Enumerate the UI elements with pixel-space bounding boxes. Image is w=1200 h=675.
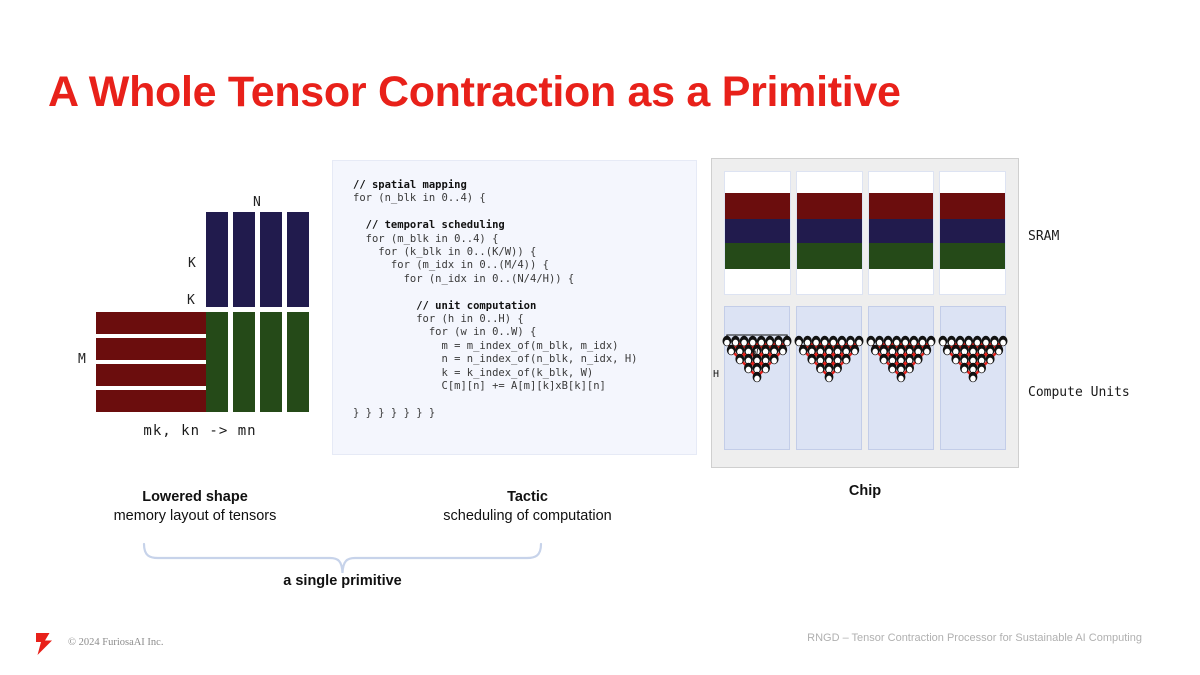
sram-cell [725,193,790,219]
compute-unit-width-label: W [752,348,758,359]
caption-tactic-subtitle: scheduling of computation [410,507,645,526]
sram-cell [797,193,862,219]
compute-unit-column[interactable] [796,306,862,450]
compute-units-label: Compute Units [1028,385,1130,400]
adder-tree-art [933,333,1013,395]
sram-column [868,171,935,295]
tensor-shapes-svg [70,180,330,450]
sram-column [939,171,1006,295]
sram-cell [940,219,1005,243]
caption-chip: Chip [790,482,940,501]
lowered-shape-expression: mk, kn -> mn [70,423,330,439]
sram-cell [725,269,790,294]
sram-cell [869,193,934,219]
sram-cell [940,172,1005,193]
a-matrix-bars [96,312,206,412]
sram-cell [869,219,934,243]
compute-unit-column[interactable] [868,306,934,450]
compute-unit-height-label: H [713,369,719,380]
sram-cell [797,243,862,269]
sram-block [724,171,1006,295]
axis-label-k-left: K [187,293,195,308]
page-title: A Whole Tensor Contraction as a Primitiv… [48,68,901,117]
adder-tree-art [717,333,797,395]
primitive-label: a single primitive [140,573,545,589]
grouping-brace [140,542,545,576]
caption-chip-title: Chip [790,482,940,501]
tactic-code-text: // spatial mapping for (n_blk in 0..4) {… [353,179,696,420]
slide-root: A Whole Tensor Contraction as a Primitiv… [0,0,1200,675]
sram-cell [725,219,790,243]
sram-column [796,171,863,295]
sram-cell [725,172,790,193]
b-matrix-bars [206,212,309,307]
compute-unit-column[interactable] [940,306,1006,450]
sram-cell [869,172,934,193]
caption-tactic: Tactic scheduling of computation [410,488,645,526]
c-matrix-bars [206,312,309,412]
footer-tagline: RNGD – Tensor Contraction Processor for … [807,632,1142,644]
sram-cell [725,243,790,269]
caption-lowered-title: Lowered shape [75,488,315,507]
chip-diagram [711,158,1019,468]
axis-label-n: N [253,195,261,210]
compute-units-block [724,306,1006,450]
sram-cell [869,269,934,294]
sram-cell [940,243,1005,269]
axis-label-m: M [78,352,86,367]
lowered-shape-diagram: N K K M [70,180,330,450]
furiosaai-logo [33,632,55,656]
caption-lowered-shape: Lowered shape memory layout of tensors [75,488,315,526]
axis-label-k-top: K [188,256,196,271]
footer-copyright: © 2024 FuriosaAI Inc. [68,637,163,648]
sram-cell [797,172,862,193]
adder-tree-art [861,333,941,395]
sram-label: SRAM [1028,229,1059,244]
sram-cell [940,193,1005,219]
adder-tree-art [789,333,869,395]
compute-unit-column[interactable] [724,306,790,450]
caption-tactic-title: Tactic [410,488,645,507]
tactic-code-panel: // spatial mapping for (n_blk in 0..4) {… [332,160,697,455]
sram-cell [940,269,1005,294]
caption-lowered-subtitle: memory layout of tensors [75,507,315,526]
sram-cell [869,243,934,269]
sram-cell [797,269,862,294]
sram-cell [797,219,862,243]
sram-column [724,171,791,295]
